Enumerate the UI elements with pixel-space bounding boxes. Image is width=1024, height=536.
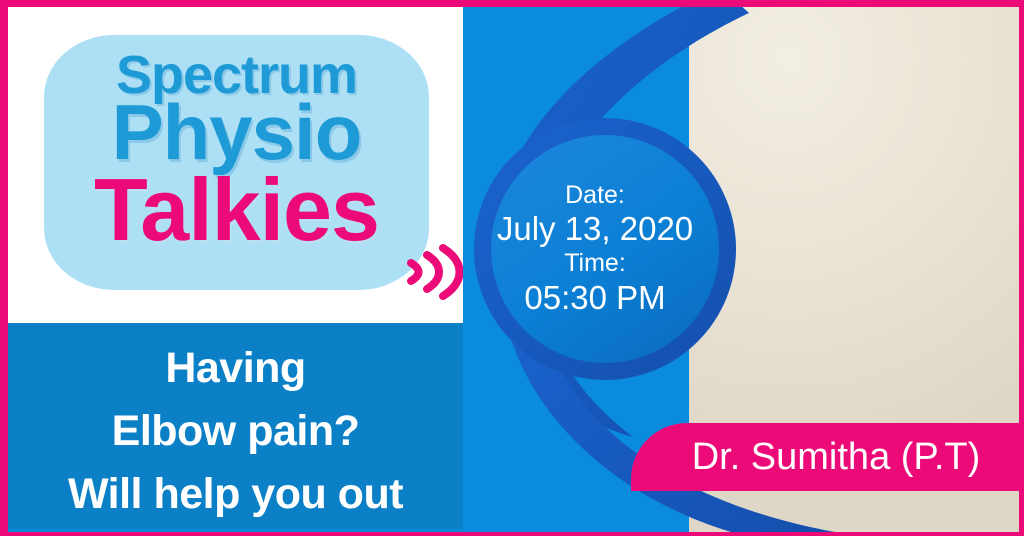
- tagline-line-2: Elbow pain?: [8, 410, 463, 453]
- frame-border-bottom: [0, 532, 1024, 536]
- graphic-column: Date: July 13, 2020 Time: 05:30 PM Dr. S…: [463, 7, 1019, 532]
- logo-card: Spectrum Physio Talkies: [8, 7, 463, 323]
- tagline-line-1: Having: [8, 347, 463, 390]
- time-label: Time:: [564, 249, 626, 279]
- sound-wave-icon: [401, 241, 463, 303]
- logo-badge: Spectrum Physio Talkies: [44, 35, 429, 290]
- tagline-line-3: Will help you out: [8, 473, 463, 516]
- time-value: 05:30 PM: [524, 279, 665, 318]
- promotional-poster: Date: July 13, 2020 Time: 05:30 PM Dr. S…: [0, 0, 1024, 536]
- schedule-block: Date: July 13, 2020 Time: 05:30 PM: [488, 142, 702, 356]
- frame-border-right: [1019, 0, 1024, 536]
- tagline-panel: Having Elbow pain? Will help you out: [8, 323, 463, 529]
- frame-border-top: [0, 0, 1024, 7]
- date-label: Date:: [565, 181, 625, 211]
- frame-border-left: [0, 0, 8, 536]
- speaker-name: Dr. Sumitha (P.T): [631, 423, 1019, 491]
- speaker-name-banner: Dr. Sumitha (P.T): [631, 423, 1019, 491]
- date-value: July 13, 2020: [497, 210, 693, 249]
- left-column: Spectrum Physio Talkies Having Elbow pai…: [8, 7, 463, 529]
